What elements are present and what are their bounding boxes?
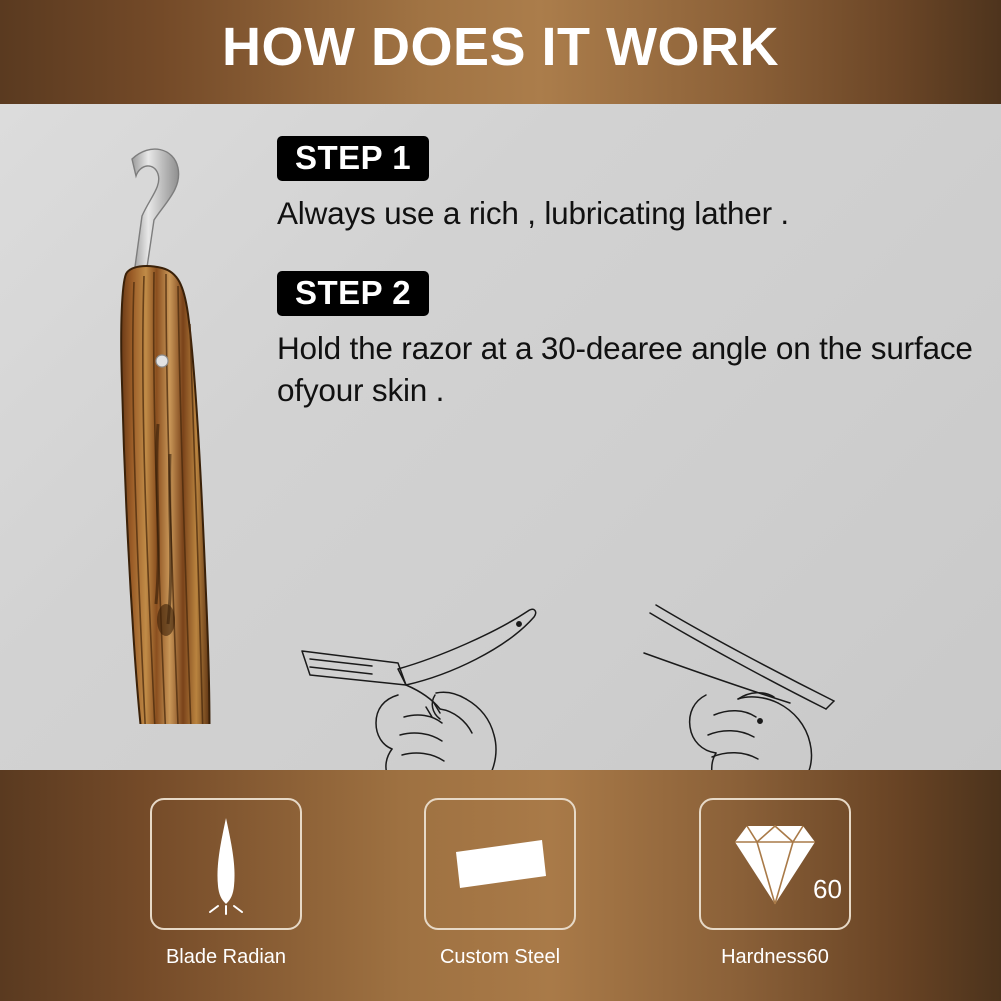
steps-list: STEP 1 Always use a rich , lubricating l… xyxy=(277,136,982,412)
step-2-badge: STEP 2 xyxy=(277,271,429,316)
step-1-badge: STEP 1 xyxy=(277,136,429,181)
diamond-hardness-icon-box: 60 xyxy=(699,798,851,930)
feature-custom-steel-label: Custom Steel xyxy=(370,946,630,969)
main-panel: STEP 1 Always use a rich , lubricating l… xyxy=(0,104,1001,770)
feature-hardness: 60 Hardness60 xyxy=(645,798,905,969)
step-1-text: Always use a rich , lubricating lather . xyxy=(277,192,982,235)
feature-blade-radian-label: Blade Radian xyxy=(96,946,356,969)
page-title: HOW DOES IT WORK xyxy=(0,16,1001,78)
blade-radian-icon xyxy=(152,800,300,928)
custom-steel-icon-box xyxy=(424,798,576,930)
header-banner: HOW DOES IT WORK xyxy=(0,0,1001,104)
diamond-badge-number: 60 xyxy=(813,874,842,904)
feature-hardness-label: Hardness60 xyxy=(645,946,905,969)
product-photo xyxy=(70,124,260,724)
blade-radian-icon-box xyxy=(150,798,302,930)
infographic-page: HOW DOES IT WORK xyxy=(0,0,1001,1001)
step-2-text: Hold the razor at a 30-dearee angle on t… xyxy=(277,327,982,412)
step-2: STEP 2 Hold the razor at a 30-dearee ang… xyxy=(277,271,982,412)
diamond-hardness-icon: 60 xyxy=(701,800,849,928)
footer-features: Blade Radian Custom Steel xyxy=(0,770,1001,1001)
feature-custom-steel: Custom Steel xyxy=(370,798,630,969)
razor-illustration xyxy=(70,124,260,724)
feature-blade-radian: Blade Radian xyxy=(96,798,356,969)
step-1: STEP 1 Always use a rich , lubricating l… xyxy=(277,136,982,235)
custom-steel-icon xyxy=(426,800,574,928)
